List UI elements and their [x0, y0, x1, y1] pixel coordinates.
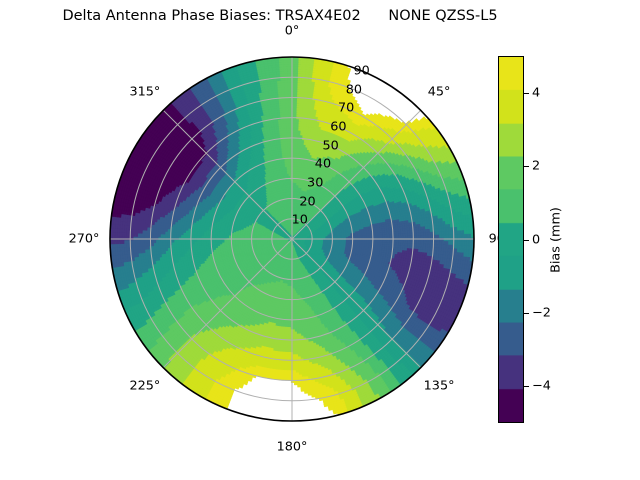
angular-tick-label: 45° [428, 84, 451, 99]
radial-tick-label: 20 [299, 194, 315, 209]
radial-tick-label: 70 [338, 101, 354, 116]
colorbar-gradient [498, 56, 524, 423]
colorbar-tick-mark [524, 240, 529, 241]
polar-grid [110, 57, 474, 421]
colorbar-tick-label: −4 [532, 379, 551, 394]
angular-tick-label: 270° [69, 232, 100, 247]
radial-tick-label: 90 [353, 63, 369, 78]
radial-tick-label: 40 [315, 157, 331, 172]
colorbar-axis-label: Bias (mm) [549, 207, 564, 273]
radial-tick-label: 50 [323, 138, 339, 153]
angular-tick-label: 315° [129, 84, 160, 99]
colorbar-tick-label: 0 [532, 232, 540, 247]
colorbar-tick-mark [524, 386, 529, 387]
angular-tick-label: 225° [129, 379, 160, 394]
colorbar-tick-mark [524, 166, 529, 167]
radial-tick-label: 10 [292, 213, 308, 228]
radial-tick-label: 60 [330, 119, 346, 134]
colorbar-tick-mark [524, 313, 529, 314]
angular-tick-label: 0° [285, 24, 300, 39]
angular-tick-label: 135° [424, 379, 455, 394]
colorbar-tick-mark [524, 93, 529, 94]
colorbar-tick-label: −2 [532, 305, 551, 320]
angular-tick-label: 180° [277, 440, 308, 455]
figure-canvas: Delta Antenna Phase Biases: TRSAX4E02 NO… [0, 0, 640, 480]
radial-tick-label: 80 [346, 82, 362, 97]
colorbar: 420−2−4 [498, 56, 524, 423]
colorbar-tick-label: 4 [532, 85, 540, 100]
radial-tick-label: 30 [307, 175, 323, 190]
colorbar-tick-label: 2 [532, 159, 540, 174]
